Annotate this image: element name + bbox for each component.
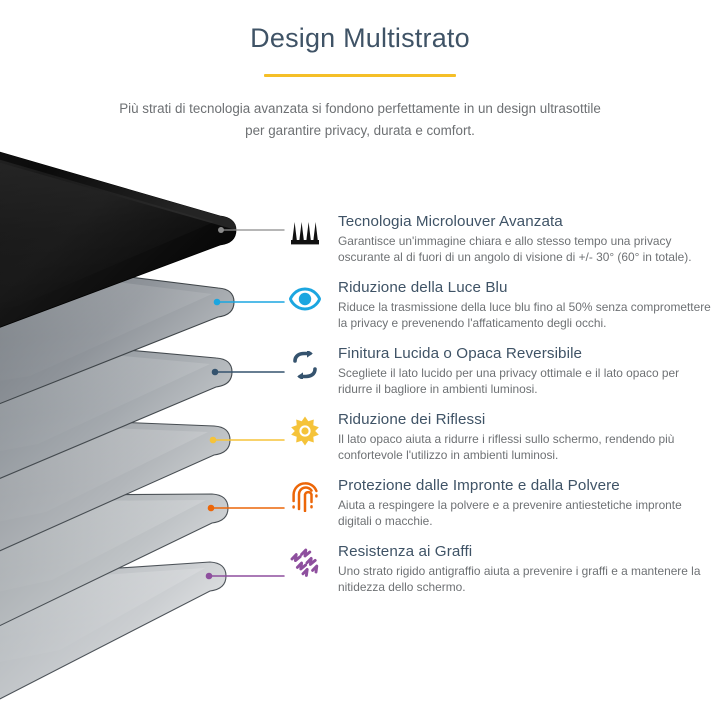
feature-description: Aiuta a respingere la polvere e a preven… — [338, 497, 713, 529]
feature-item-scratch: Resistenza ai Graffi Uno strato rigido a… — [288, 542, 713, 608]
header: Design Multistrato Più strati di tecnolo… — [0, 0, 720, 142]
title-divider — [264, 74, 456, 77]
feature-heading: Resistenza ai Graffi — [338, 542, 713, 561]
feature-item-fingerprint: Protezione dalle Impronte e dalla Polver… — [288, 476, 713, 542]
feature-description: Garantisce un'immagine chiara e allo ste… — [338, 233, 713, 265]
multilayer-design-infographic: Design Multistrato Più strati di tecnolo… — [0, 0, 720, 720]
feature-heading: Riduzione dei Riflessi — [338, 410, 713, 429]
page-title: Design Multistrato — [0, 0, 720, 54]
reversible-arrows-icon — [288, 348, 322, 382]
microlouver-icon — [288, 216, 322, 250]
feature-item-anti-glare: Riduzione dei Riflessi Il lato opaco aiu… — [288, 410, 713, 476]
fingerprint-icon — [288, 480, 322, 514]
feature-description: Riduce la trasmissione della luce blu fi… — [338, 299, 713, 331]
feature-item-microlouver: Tecnologia Microlouver Avanzata Garantis… — [288, 212, 713, 278]
feature-list: Tecnologia Microlouver Avanzata Garantis… — [288, 212, 713, 608]
feature-item-reversible: Finitura Lucida o Opaca Reversibile Sceg… — [288, 344, 713, 410]
feature-description: Il lato opaco aiuta a ridurre i riflessi… — [338, 431, 713, 463]
feature-description: Scegliete il lato lucido per una privacy… — [338, 365, 713, 397]
sun-icon — [288, 414, 322, 448]
feature-heading: Protezione dalle Impronte e dalla Polver… — [338, 476, 713, 495]
page-subtitle: Più strati di tecnologia avanzata si fon… — [110, 98, 610, 142]
feature-heading: Riduzione della Luce Blu — [338, 278, 713, 297]
feature-item-blue-light: Riduzione della Luce Blu Riduce la trasm… — [288, 278, 713, 344]
feature-heading: Tecnologia Microlouver Avanzata — [338, 212, 713, 231]
scratch-resistance-icon — [288, 546, 322, 580]
connector-lines — [206, 227, 284, 579]
feature-heading: Finitura Lucida o Opaca Reversibile — [338, 344, 713, 363]
eye-icon — [288, 282, 322, 316]
feature-description: Uno strato rigido antigraffio aiuta a pr… — [338, 563, 713, 595]
